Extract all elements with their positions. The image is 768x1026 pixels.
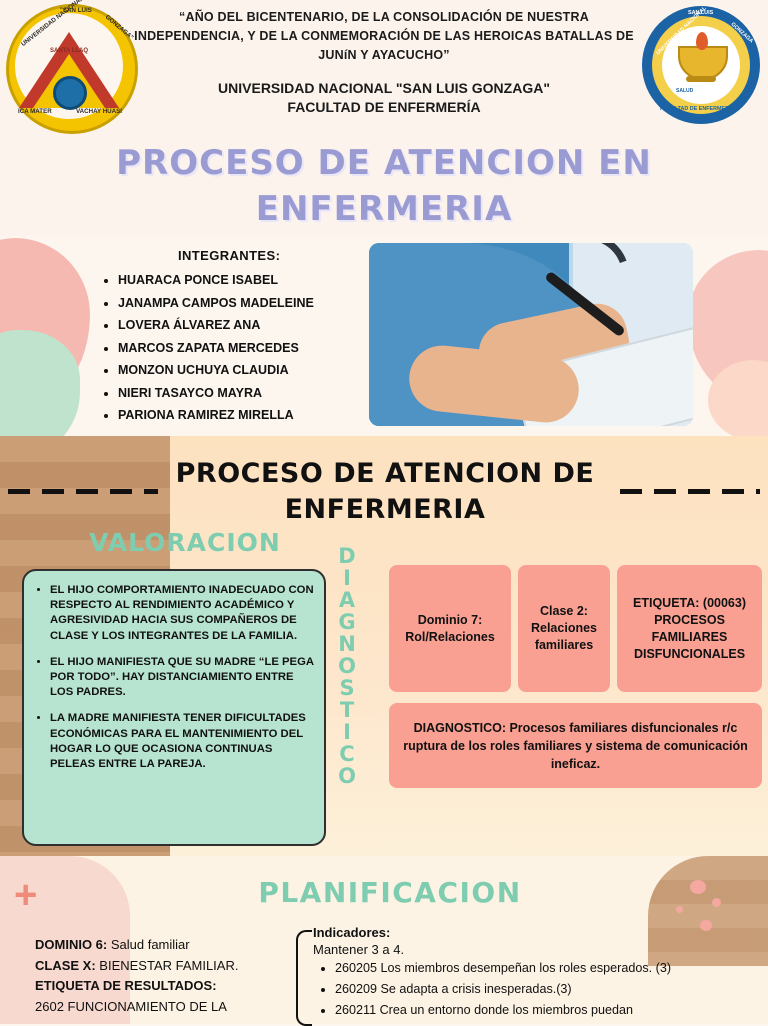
diag-letter: S	[332, 677, 362, 699]
list-item: MONZON UCHUYA CLAUDIA	[118, 361, 360, 379]
diag-letter: N	[332, 633, 362, 655]
logo-left-text-top: "SAN LUIS	[60, 7, 92, 14]
header-banner: “AÑO DEL BICENTENARIO, DE LA CONSOLIDACI…	[0, 0, 768, 136]
list-item: MARCOS ZAPATA MERCEDES	[118, 339, 360, 357]
clase-label: CLASE X:	[35, 958, 96, 973]
decorative-splatter	[712, 898, 721, 907]
list-item: EL HIJO COMPORTAMIENTO INADECUADO CON RE…	[50, 583, 324, 644]
diag-letter: C	[332, 743, 362, 765]
integrantes-heading: INTEGRANTES:	[100, 248, 360, 263]
brace-decoration	[296, 930, 312, 1026]
diag-letter: O	[332, 765, 362, 787]
etiqueta-box: ETIQUETA: (00063) PROCESOS FAMILIARES DI…	[617, 565, 762, 692]
logo-right-text-top: SAN LUIS	[688, 10, 713, 16]
list-item: EL HIJO MANIFIESTA QUE SU MADRE “LE PEGA…	[50, 655, 324, 701]
mantener-text: Mantener 3 a 4.	[313, 942, 753, 957]
logo-left-text-bottomright: VACHAY HUASI	[76, 108, 122, 115]
poster-title-line2: ENFERMERIA	[0, 186, 768, 232]
logo-right-text-right: GONZAGA	[730, 22, 754, 45]
logo-left-text-center: SANTA LLAQ	[50, 48, 88, 54]
diag-letter: O	[332, 655, 362, 677]
valoracion-box: EL HIJO COMPORTAMIENTO INADECUADO CON RE…	[22, 569, 326, 846]
etiqueta-label: ETIQUETA DE RESULTADOS:	[35, 978, 217, 993]
diag-letter: A	[332, 589, 362, 611]
plus-icon: +	[14, 878, 48, 912]
list-item: NIERI TASAYCO MAYRA	[118, 384, 360, 402]
clase-box: Clase 2: Relaciones familiares	[518, 565, 610, 692]
decorative-splatter	[676, 906, 683, 913]
planificacion-left-column: DOMINIO 6: Salud familiar CLASE X: BIENE…	[35, 935, 290, 1017]
clase-row: CLASE X: BIENESTAR FAMILIAR.	[35, 956, 290, 977]
poster-title-line1: PROCESO DE ATENCION EN	[0, 140, 768, 186]
logo-left-text: UNIVERSIDAD NACIONAL "SAN LUIS GONZAGA" …	[6, 4, 132, 128]
header-text-block: “AÑO DEL BICENTENARIO, DE LA CONSOLIDACI…	[130, 8, 638, 117]
dominio-value: Salud familiar	[107, 937, 189, 952]
diag-letter: T	[332, 699, 362, 721]
nurse-photo	[369, 243, 693, 426]
integrantes-list: HUARACA PONCE ISABEL JANAMPA CAMPOS MADE…	[100, 271, 360, 424]
list-item: LOVERA ÁLVAREZ ANA	[118, 316, 360, 334]
logo-left-text-bottomleft: ICA MATER	[18, 108, 52, 115]
diag-letter: G	[332, 611, 362, 633]
diag-letter: I	[332, 567, 362, 589]
dominio-box: Dominio 7: Rol/Relaciones	[389, 565, 511, 692]
valoracion-list: EL HIJO COMPORTAMIENTO INADECUADO CON RE…	[24, 583, 324, 772]
logo-right-text: UNIVERSIDAD NACIONAL SAN LUIS GONZAGA FA…	[642, 6, 760, 124]
list-item: 260211 Crea un entorno donde los miembro…	[335, 1001, 753, 1020]
section2-title-line2: ENFERMERIA	[120, 492, 650, 528]
list-item: HUARACA PONCE ISABEL	[118, 271, 360, 289]
bicentenario-slogan: “AÑO DEL BICENTENARIO, DE LA CONSOLIDACI…	[130, 8, 638, 65]
etiqueta-value-row: 2602 FUNCIONAMIENTO DE LA	[35, 997, 290, 1018]
list-item: PARIONA RAMIREZ MIRELLA	[118, 406, 360, 424]
planificacion-heading: PLANIFICACION	[180, 876, 600, 909]
dominio-label: DOMINIO 6:	[35, 937, 107, 952]
etiqueta-row: ETIQUETA DE RESULTADOS:	[35, 976, 290, 997]
list-item: JANAMPA CAMPOS MADELEINE	[118, 294, 360, 312]
faculty-logo-right: UNIVERSIDAD NACIONAL SAN LUIS GONZAGA FA…	[642, 6, 760, 124]
diagnostico-vertical-label: D I A G N O S T I C O	[332, 545, 362, 787]
diag-letter: I	[332, 721, 362, 743]
logo-right-text-inner: SALUD	[676, 88, 693, 94]
indicadores-label: Indicadores:	[313, 925, 753, 940]
diag-letter: D	[332, 545, 362, 567]
list-item: LA MADRE MANIFIESTA TENER DIFICULTADES E…	[50, 711, 324, 772]
integrantes-section: INTEGRANTES: HUARACA PONCE ISABEL JANAMP…	[100, 248, 360, 429]
university-logo-left: UNIVERSIDAD NACIONAL "SAN LUIS GONZAGA" …	[6, 4, 132, 128]
logo-right-text-bottom: FACULTAD DE ENFERMERÍA	[660, 106, 734, 112]
poster-title: PROCESO DE ATENCION EN ENFERMERIA	[0, 140, 768, 232]
dominio-row: DOMINIO 6: Salud familiar	[35, 935, 290, 956]
valoracion-heading: VALORACION	[60, 528, 310, 557]
clase-value: BIENESTAR FAMILIAR.	[96, 958, 239, 973]
list-item: 260205 Los miembros desempeñan los roles…	[335, 959, 753, 978]
university-name: UNIVERSIDAD NACIONAL "SAN LUIS GONZAGA"	[130, 79, 638, 98]
diagnostico-box: DIAGNOSTICO: Procesos familiares disfunc…	[389, 703, 762, 788]
list-item: 260209 Se adapta a crisis inesperadas.(3…	[335, 980, 753, 999]
section2-title-line1: PROCESO DE ATENCION DE	[120, 456, 650, 492]
logo-left-text-topright: GONZAGA"	[104, 14, 135, 42]
planificacion-right-column: Indicadores: Mantener 3 a 4. 260205 Los …	[313, 925, 753, 1022]
indicadores-list: 260205 Los miembros desempeñan los roles…	[313, 959, 753, 1020]
faculty-name: FACULTAD DE ENFERMERÍA	[130, 98, 638, 117]
decorative-splatter	[690, 880, 706, 894]
section2-title: PROCESO DE ATENCION DE ENFERMERIA	[120, 456, 650, 528]
